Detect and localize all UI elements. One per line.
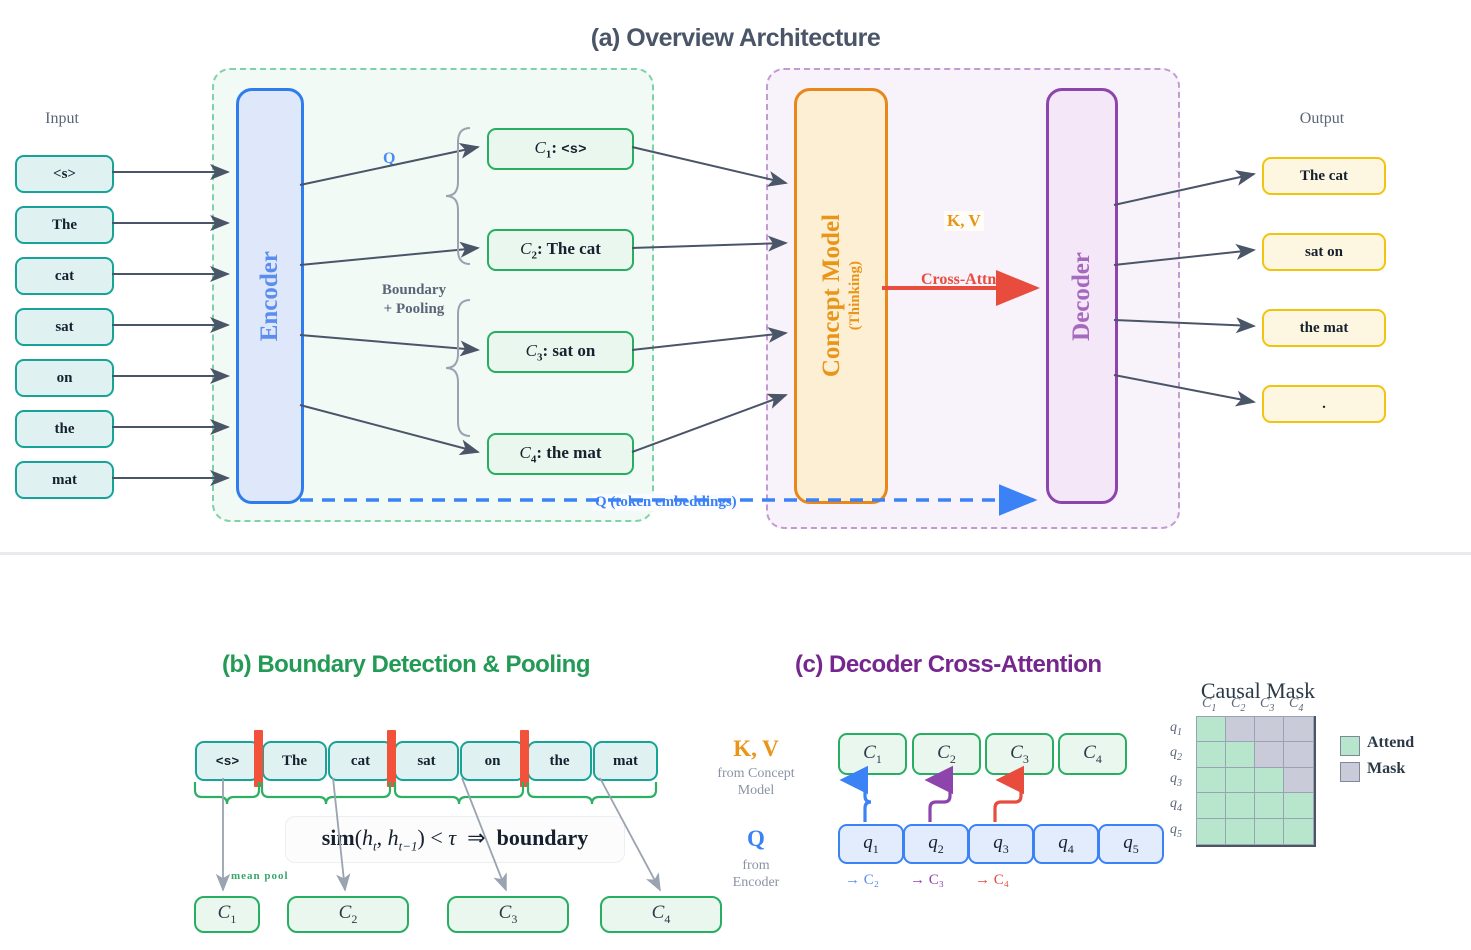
legend-swatch-attend — [1340, 736, 1360, 756]
boundary-pooling-line2: + Pooling — [360, 300, 468, 319]
pooled-concept-1[interactable]: C1 — [194, 896, 260, 933]
b-token-label: on — [485, 753, 501, 770]
mask-cell — [1283, 767, 1314, 794]
output-token-2[interactable]: the mat — [1262, 309, 1386, 347]
kv-sublabel-line2: Model — [694, 783, 818, 800]
mask-cell — [1196, 716, 1227, 743]
mask-cell — [1254, 767, 1285, 794]
encoder-label: Encoder — [256, 251, 285, 341]
b-token-label: cat — [351, 753, 370, 770]
output-token-label: the mat — [1300, 320, 1349, 337]
concept-text: sat on — [552, 341, 595, 360]
cross-attn-label: Cross-Attn — [921, 271, 996, 289]
input-token-label: the — [55, 421, 75, 438]
b-token-label: the — [550, 753, 570, 770]
mask-col-label: C2 — [1231, 696, 1245, 714]
decoder-label: Decoder — [1068, 252, 1097, 341]
concept-model-sublabel: (Thinking) — [847, 261, 863, 330]
input-token-label: <s> — [53, 166, 76, 183]
concept-box-3[interactable]: C3: sat on — [487, 331, 634, 373]
output-label: Output — [1272, 110, 1372, 128]
c-concept-4[interactable]: C4 — [1058, 733, 1127, 775]
concept-model-block[interactable]: Concept Model (Thinking) — [794, 88, 888, 504]
concept-index: 1 — [546, 148, 552, 160]
input-token-label: on — [57, 370, 73, 387]
mask-row-label: q2 — [1170, 745, 1182, 763]
c-query-1[interactable]: q1 — [838, 824, 904, 864]
input-token-4[interactable]: on — [15, 359, 114, 397]
concept-index: 2 — [531, 249, 537, 261]
mask-cell — [1196, 767, 1227, 794]
concept-box-1[interactable]: C1: <s> — [487, 128, 634, 170]
q-sublabel-line2: Encoder — [694, 875, 818, 892]
boundary-pooling-line1: Boundary — [360, 281, 468, 300]
concept-model-label: Concept Model — [818, 214, 845, 377]
pooled-concept-4[interactable]: C4 — [600, 896, 722, 933]
mask-cell — [1196, 792, 1227, 819]
mask-cell — [1283, 818, 1314, 845]
mask-row-label: q1 — [1170, 720, 1182, 738]
c-query-2[interactable]: q2 — [903, 824, 969, 864]
mask-cell — [1196, 741, 1227, 768]
input-token-label: The — [52, 217, 77, 234]
mask-cell — [1225, 741, 1256, 768]
output-token-label: sat on — [1305, 244, 1343, 261]
output-token-3[interactable]: . — [1262, 385, 1386, 423]
b-token-0[interactable]: <s> — [195, 741, 260, 781]
boundary-bar-2 — [520, 730, 529, 787]
c-query-3[interactable]: q3 — [968, 824, 1034, 864]
c-concept-3[interactable]: C3 — [985, 733, 1054, 775]
pooled-concept-3[interactable]: C3 — [447, 896, 569, 933]
input-token-6[interactable]: mat — [15, 461, 114, 499]
input-token-label: sat — [55, 319, 73, 336]
mapping-label-0: → C₂ — [845, 872, 879, 889]
concept-box-2[interactable]: C2: The cat — [487, 229, 634, 271]
mask-cell — [1196, 818, 1227, 845]
mask-row-label: q3 — [1170, 771, 1182, 789]
input-token-2[interactable]: cat — [15, 257, 114, 295]
b-token-label: sat — [417, 753, 435, 770]
mask-cell — [1254, 792, 1285, 819]
mask-row-label: q4 — [1170, 796, 1182, 814]
c-query-5[interactable]: q5 — [1098, 824, 1164, 864]
input-label: Input — [12, 110, 112, 128]
panel-a-title: (a) Overview Architecture — [0, 24, 1471, 53]
c-concept-2[interactable]: C2 — [912, 733, 981, 775]
mask-cell — [1225, 767, 1256, 794]
token-embeddings-label: Q (token embeddings) — [592, 494, 740, 511]
legend-label-mask: Mask — [1367, 760, 1405, 778]
mask-cell — [1254, 741, 1285, 768]
b-token-label: The — [282, 753, 307, 770]
mask-row-label: q5 — [1170, 822, 1182, 840]
mask-cell — [1254, 818, 1285, 845]
c-concept-1[interactable]: C1 — [838, 733, 907, 775]
section-divider — [0, 552, 1471, 555]
b-token-2[interactable]: cat — [328, 741, 393, 781]
b-token-5[interactable]: the — [527, 741, 592, 781]
b-token-6[interactable]: mat — [593, 741, 658, 781]
panel-c-title: (c) Decoder Cross-Attention — [795, 651, 1102, 679]
output-token-label: The cat — [1300, 168, 1348, 185]
concept-index: 3 — [537, 351, 543, 363]
mapping-label-1: → C₃ — [910, 872, 944, 889]
boundary-bar-1 — [387, 730, 396, 787]
mask-col-label: C3 — [1260, 696, 1274, 714]
input-token-0[interactable]: <s> — [15, 155, 114, 193]
concept-text: the mat — [546, 443, 601, 462]
mask-cell — [1225, 792, 1256, 819]
mask-col-label: C4 — [1289, 696, 1303, 714]
encoder-block[interactable]: Encoder — [236, 88, 304, 504]
pooled-concept-2[interactable]: C2 — [287, 896, 409, 933]
concept-box-4[interactable]: C4: the mat — [487, 433, 634, 475]
concept-text: The cat — [547, 239, 601, 258]
boundary-formula: sim(ht, ht−1) < τ ⇒ boundary — [285, 816, 625, 863]
decoder-block[interactable]: Decoder — [1046, 88, 1118, 504]
legend-label-attend: Attend — [1367, 734, 1414, 752]
mean-pool-label: mean pool — [231, 870, 289, 882]
concept-index: 4 — [531, 453, 537, 465]
mapping-label-2: → C₄ — [975, 872, 1009, 889]
mask-cell — [1283, 716, 1314, 743]
b-token-label: <s> — [216, 754, 239, 769]
q-sublabel-line1: from — [694, 858, 818, 875]
b-token-3[interactable]: sat — [394, 741, 459, 781]
mask-cell — [1283, 741, 1314, 768]
formula-boundary: boundary — [497, 825, 589, 850]
c-query-4[interactable]: q4 — [1033, 824, 1099, 864]
kv-sublabel-line1: from Concept — [694, 766, 818, 783]
output-token-0[interactable]: The cat — [1262, 157, 1386, 195]
input-token-1[interactable]: The — [15, 206, 114, 244]
q-label-c: Q — [700, 826, 812, 852]
input-token-5[interactable]: the — [15, 410, 114, 448]
boundary-pooling-label: Boundary + Pooling — [360, 281, 468, 319]
concept-text: <s> — [561, 142, 586, 158]
b-token-4[interactable]: on — [460, 741, 525, 781]
input-token-label: cat — [55, 268, 74, 285]
boundary-bar-0 — [254, 730, 263, 787]
kv-sublabel: from Concept Model — [694, 766, 818, 800]
legend-swatch-mask — [1340, 762, 1360, 782]
output-token-1[interactable]: sat on — [1262, 233, 1386, 271]
mask-cell — [1225, 818, 1256, 845]
output-token-label: . — [1322, 396, 1326, 413]
kv-label-a: K, V — [944, 211, 984, 231]
b-token-1[interactable]: The — [262, 741, 327, 781]
input-token-label: mat — [52, 472, 77, 489]
q-sublabel: from Encoder — [694, 858, 818, 892]
mask-cell — [1225, 716, 1256, 743]
mask-cell — [1283, 792, 1314, 819]
formula-sim: sim — [322, 825, 355, 850]
b-token-label: mat — [613, 753, 638, 770]
input-token-3[interactable]: sat — [15, 308, 114, 346]
panel-b-title: (b) Boundary Detection & Pooling — [222, 651, 590, 679]
kv-label-c: K, V — [700, 736, 812, 762]
mask-cell — [1254, 716, 1285, 743]
q-edge-label: Q — [383, 150, 395, 168]
mask-col-label: C1 — [1202, 696, 1216, 714]
